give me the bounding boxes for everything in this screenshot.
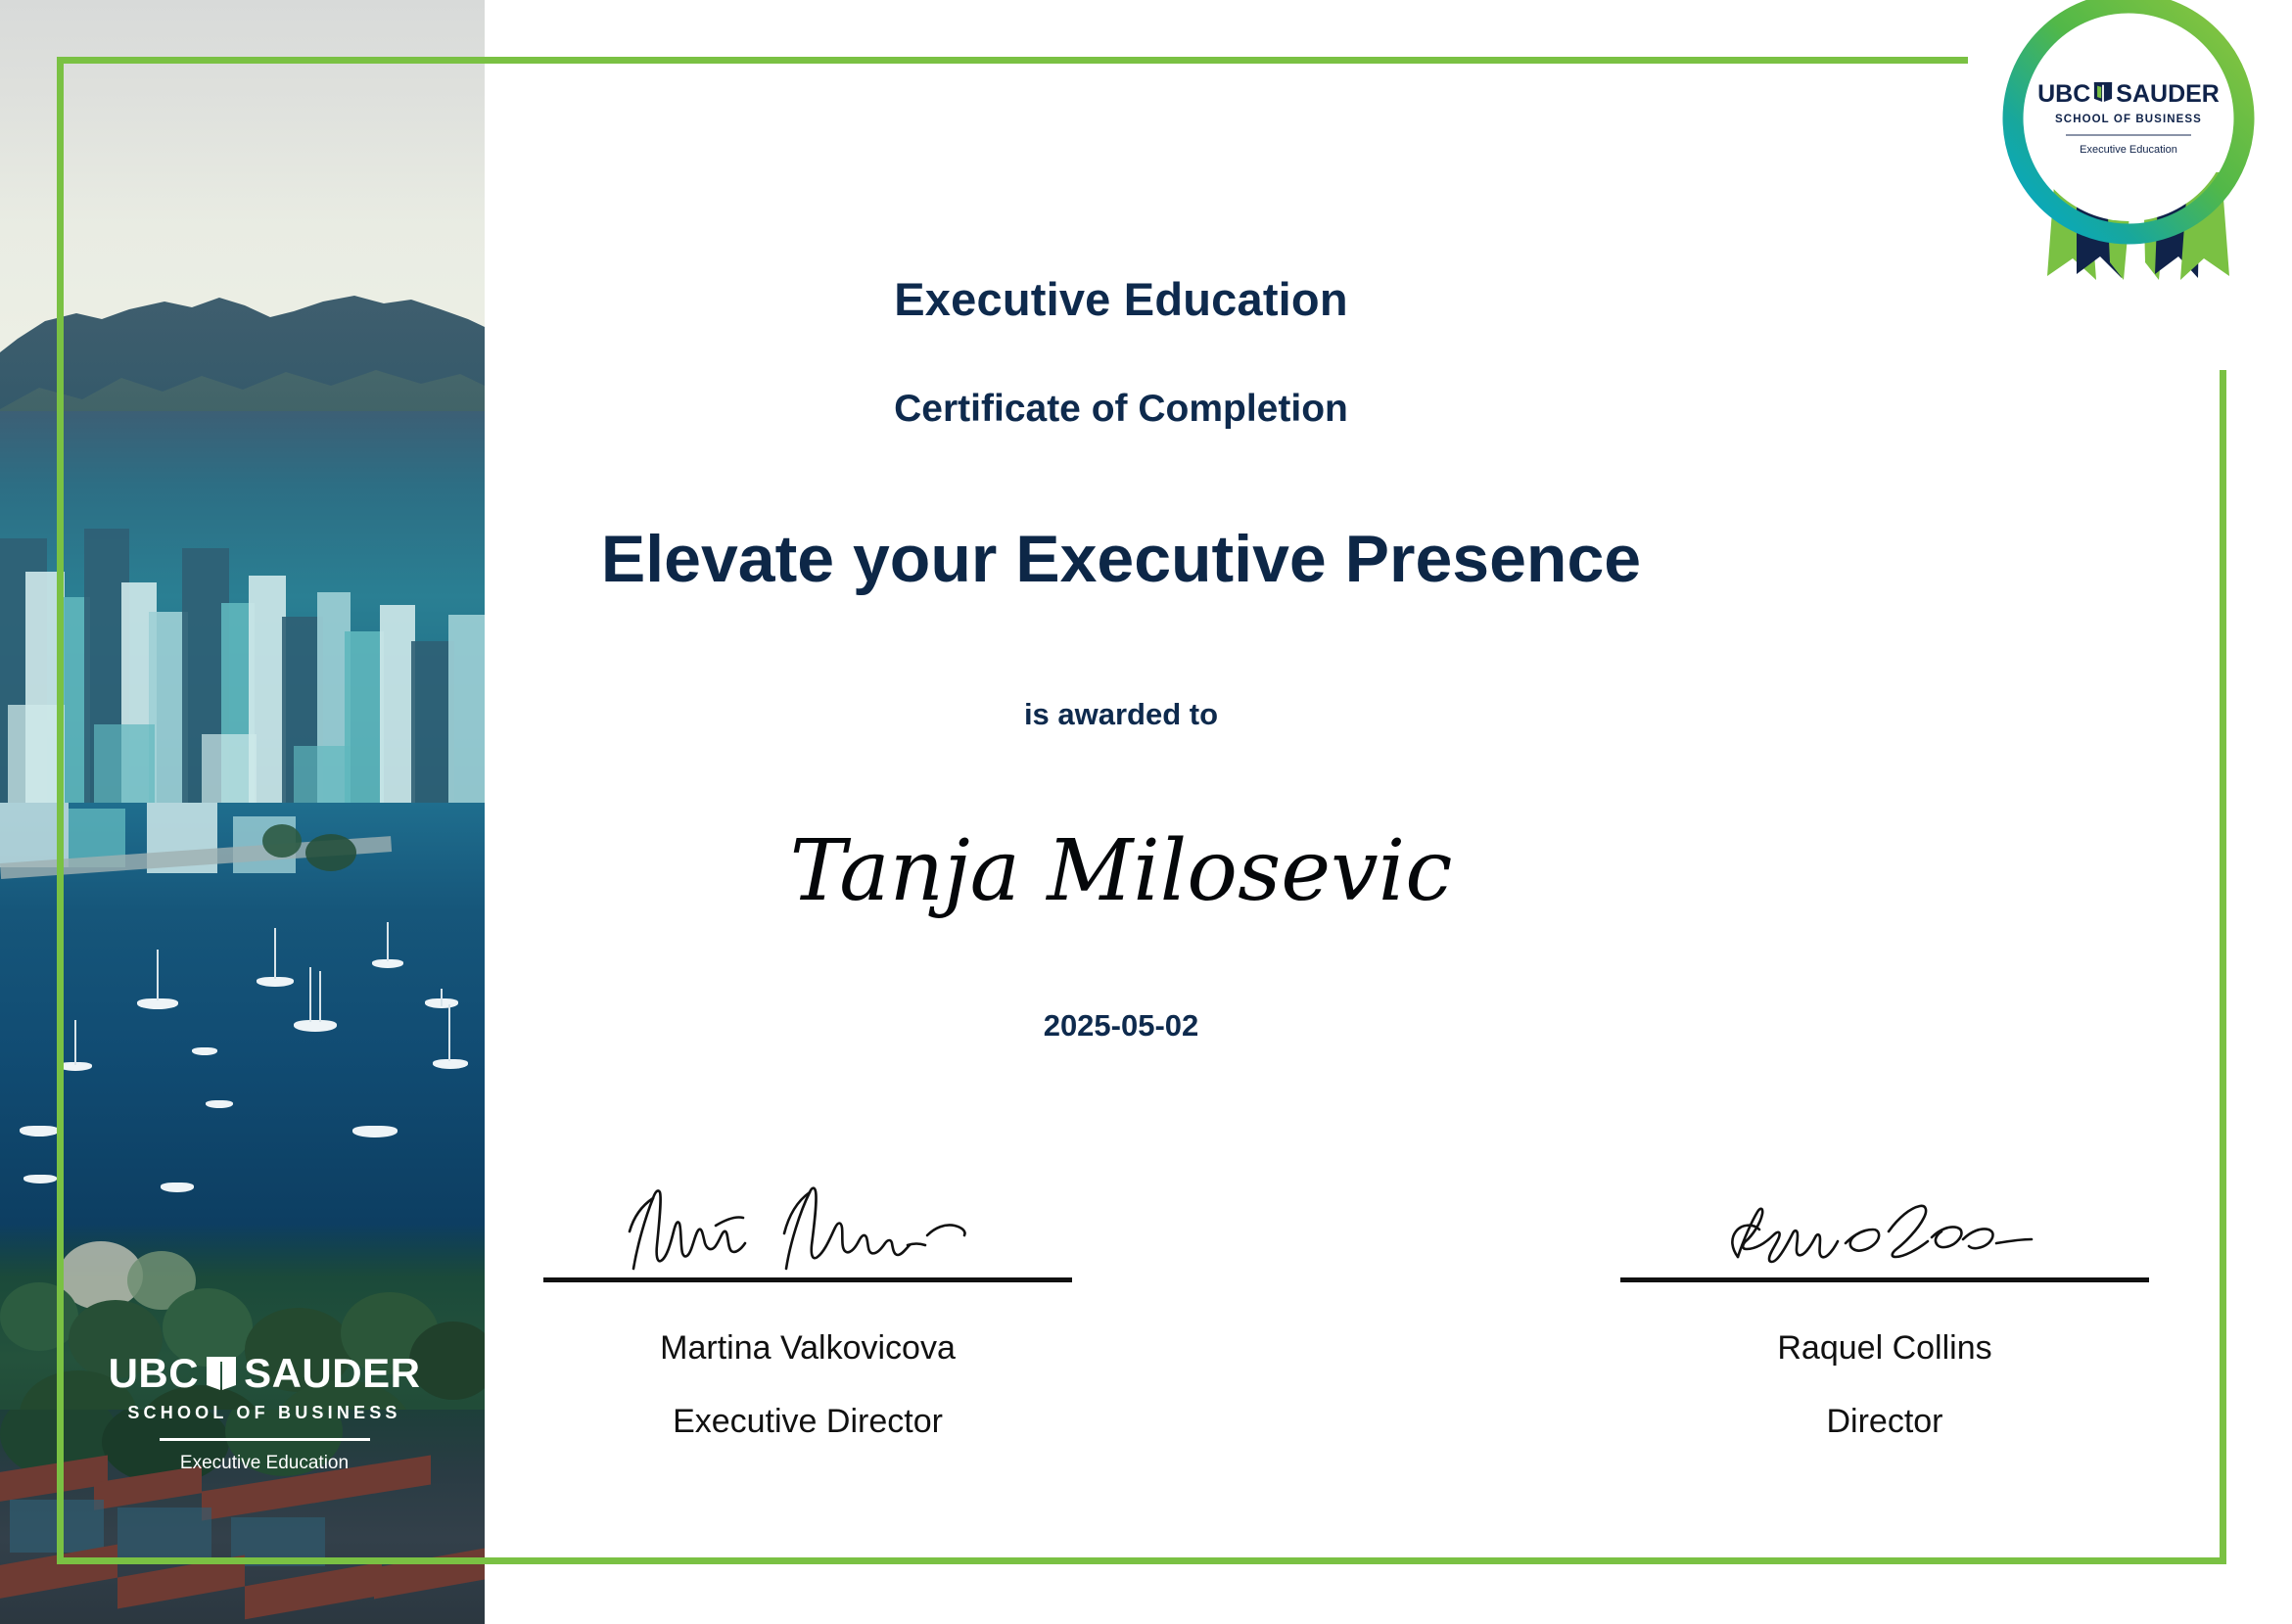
seal-school-of-business-text: SCHOOL OF BUSINESS — [1987, 114, 2270, 125]
signature-block-left: Martina Valkovicova Executive Director — [543, 1175, 1072, 1441]
logo-wordmark-row: UBC SAUDER — [108, 1353, 421, 1394]
signature-image-raquel-collins — [1620, 1175, 2149, 1277]
frame-border-bottom — [57, 1557, 2226, 1564]
seal-divider — [2066, 134, 2191, 136]
seal-ubc-text: UBC — [2037, 82, 2090, 107]
logo-ubc-text: UBC — [109, 1353, 200, 1394]
seal-program-text: Executive Education — [1987, 144, 2270, 156]
signature-rule-right — [1620, 1277, 2149, 1282]
recipient-name: Tanja Milosevic — [485, 822, 1757, 920]
signatory-name-left: Martina Valkovicova — [543, 1329, 1072, 1368]
ubc-sauder-seal-badge: UBC SAUDER SCHOOL OF BUSINESS Executive … — [1987, 0, 2270, 309]
course-title: Elevate your Executive Presence — [485, 521, 1757, 597]
logo-sauder-text: SAUDER — [244, 1353, 420, 1394]
seal-sauder-text: SAUDER — [2116, 82, 2220, 107]
seal-wordmark-row: UBC SAUDER — [1987, 80, 2270, 109]
signature-block-right: Raquel Collins Director — [1620, 1175, 2149, 1441]
awarded-to-label: is awarded to — [485, 697, 1757, 732]
ubc-open-book-icon — [205, 1354, 238, 1393]
signature-image-martina-valkovicova — [543, 1175, 1072, 1277]
certificate-kind: Certificate of Completion — [485, 388, 1757, 431]
frame-border-right — [2220, 370, 2226, 1564]
eyebrow-executive-education: Executive Education — [485, 272, 1757, 326]
issue-date: 2025-05-02 — [485, 1008, 1757, 1044]
signature-rule-left — [543, 1277, 1072, 1282]
seal-open-book-icon — [2093, 80, 2113, 109]
photo-city-skyline — [0, 411, 485, 822]
signatory-name-right: Raquel Collins — [1620, 1329, 2149, 1368]
logo-program-text: Executive Education — [108, 1453, 421, 1474]
logo-school-of-business-text: SCHOOL OF BUSINESS — [108, 1403, 421, 1423]
ubc-sauder-logo-white: UBC SAUDER SCHOOL OF BUSINESS Executive … — [108, 1353, 421, 1474]
certificate-photo: UBC SAUDER SCHOOL OF BUSINESS Executive … — [0, 0, 485, 1624]
logo-divider — [160, 1438, 370, 1441]
frame-border-top — [57, 57, 1968, 64]
signatory-title-right: Director — [1620, 1403, 2149, 1441]
frame-border-left — [57, 57, 64, 1564]
signatory-title-left: Executive Director — [543, 1403, 1072, 1441]
